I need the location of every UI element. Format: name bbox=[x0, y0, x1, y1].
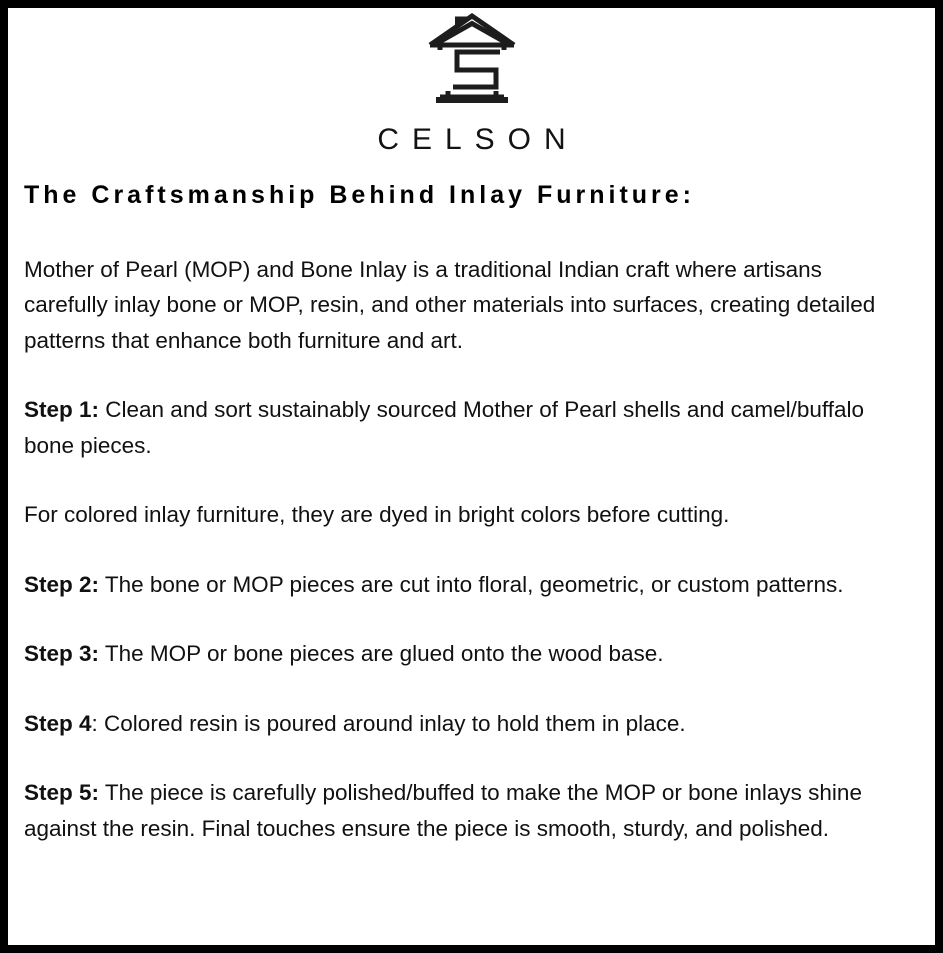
paragraph-step-3: Step 3: The MOP or bone pieces are glued… bbox=[24, 636, 901, 672]
poster-content: CELSON The Craftsmanship Behind Inlay Fu… bbox=[8, 8, 935, 945]
paragraph-lead: Step 5: bbox=[24, 780, 99, 805]
poster-frame: CELSON The Craftsmanship Behind Inlay Fu… bbox=[0, 0, 943, 953]
paragraph-text: The MOP or bone pieces are glued onto th… bbox=[99, 641, 664, 666]
paragraph-text: Colored resin is poured around inlay to … bbox=[98, 711, 686, 736]
paragraph-text: Mother of Pearl (MOP) and Bone Inlay is … bbox=[24, 257, 875, 353]
page-title: The Craftsmanship Behind Inlay Furniture… bbox=[8, 182, 935, 210]
paragraph-text: Clean and sort sustainably sourced Mothe… bbox=[24, 397, 864, 458]
paragraph-text: The bone or MOP pieces are cut into flor… bbox=[99, 572, 844, 597]
paragraph-lead: Step 2: bbox=[24, 572, 99, 597]
paragraph-lead: Step 4 bbox=[24, 711, 92, 736]
paragraph-lead: Step 3: bbox=[24, 641, 99, 666]
body-copy: Mother of Pearl (MOP) and Bone Inlay is … bbox=[8, 252, 935, 847]
brand-block: CELSON bbox=[8, 8, 935, 155]
paragraph-step-2: Step 2: The bone or MOP pieces are cut i… bbox=[24, 567, 901, 603]
paragraph-intro: Mother of Pearl (MOP) and Bone Inlay is … bbox=[24, 252, 901, 359]
paragraph-text: For colored inlay furniture, they are dy… bbox=[24, 502, 729, 527]
paragraph-step-4: Step 4: Colored resin is poured around i… bbox=[24, 706, 901, 742]
paragraph-note-colored: For colored inlay furniture, they are dy… bbox=[24, 497, 901, 533]
house-with-s-monogram-icon bbox=[426, 13, 518, 109]
paragraph-step-5: Step 5: The piece is carefully polished/… bbox=[24, 775, 901, 846]
paragraph-step-1: Step 1: Clean and sort sustainably sourc… bbox=[24, 392, 901, 463]
brand-name: CELSON bbox=[8, 125, 935, 155]
paragraph-text: The piece is carefully polished/buffed t… bbox=[24, 780, 862, 841]
paragraph-lead: Step 1: bbox=[24, 397, 99, 422]
